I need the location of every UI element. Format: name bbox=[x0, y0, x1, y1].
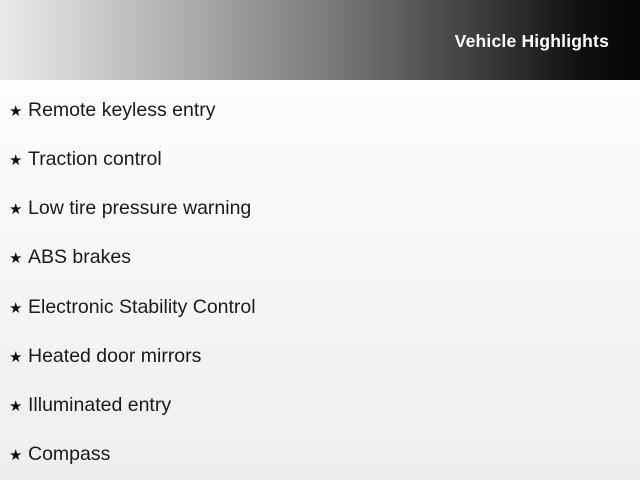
list-item: ★ ABS brakes bbox=[0, 248, 640, 297]
star-bullet-icon: ★ bbox=[9, 153, 28, 168]
star-bullet-icon: ★ bbox=[9, 448, 28, 463]
star-bullet-icon: ★ bbox=[9, 251, 28, 266]
list-item-label: Traction control bbox=[28, 150, 162, 170]
list-item-label: Electronic Stability Control bbox=[28, 298, 256, 318]
vehicle-features-list: ★ Remote keyless entry ★ Traction contro… bbox=[0, 80, 640, 494]
list-item: ★ Remote keyless entry bbox=[0, 80, 640, 150]
list-item: ★ Compass bbox=[0, 445, 640, 494]
list-item: ★ Traction control bbox=[0, 150, 640, 199]
star-bullet-icon: ★ bbox=[9, 202, 28, 217]
list-item-label: Low tire pressure warning bbox=[28, 199, 251, 219]
vehicle-highlights-slide: Vehicle Highlights ★ Remote keyless entr… bbox=[0, 0, 640, 480]
list-item: ★ Illuminated entry bbox=[0, 396, 640, 445]
page-title: Vehicle Highlights bbox=[455, 33, 609, 51]
header-bar: Vehicle Highlights bbox=[0, 0, 640, 80]
list-item-label: Remote keyless entry bbox=[28, 101, 216, 121]
list-item-label: Compass bbox=[28, 445, 110, 465]
list-item: ★ Low tire pressure warning bbox=[0, 199, 640, 248]
star-bullet-icon: ★ bbox=[9, 399, 28, 414]
list-item-label: Illuminated entry bbox=[28, 396, 171, 416]
list-item: ★ Heated door mirrors bbox=[0, 347, 640, 396]
star-bullet-icon: ★ bbox=[9, 301, 28, 316]
star-bullet-icon: ★ bbox=[9, 350, 28, 365]
list-item-label: ABS brakes bbox=[28, 248, 131, 268]
list-item-label: Heated door mirrors bbox=[28, 347, 201, 367]
star-bullet-icon: ★ bbox=[9, 104, 28, 119]
list-item: ★ Electronic Stability Control bbox=[0, 298, 640, 347]
